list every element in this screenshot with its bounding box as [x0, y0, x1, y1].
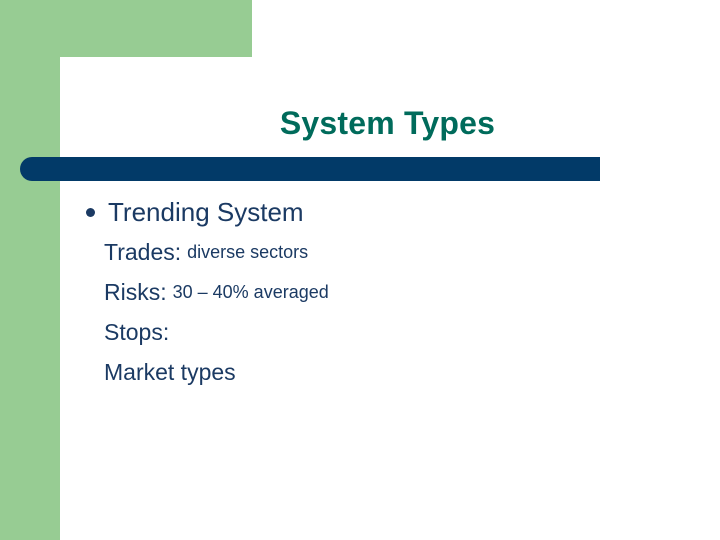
slide-canvas: System Types Trending System Trades: div…: [0, 0, 720, 540]
sub-line-label: Risks:: [104, 279, 167, 306]
sub-line-detail: diverse sectors: [187, 239, 308, 266]
sub-line-label: Stops:: [104, 319, 169, 346]
sub-line-trades: Trades: diverse sectors: [86, 232, 686, 272]
sub-line-detail: 30 – 40% averaged: [173, 279, 329, 306]
sub-line-label: Trades:: [104, 239, 181, 266]
sub-line-label: Market types: [104, 359, 236, 386]
bullet-dot-icon: [86, 208, 95, 217]
slide-title: System Types: [60, 104, 715, 142]
sub-line-risks: Risks: 30 – 40% averaged: [86, 272, 686, 312]
green-left-strip-decoration: [0, 0, 60, 540]
green-top-block-decoration: [0, 0, 252, 57]
slide-body: Trending System Trades: diverse sectors …: [86, 192, 686, 392]
bullet-item-label: Trending System: [108, 197, 304, 227]
title-underline-bar: [20, 157, 600, 181]
sub-line-stops: Stops:: [86, 312, 686, 352]
sub-line-market-types: Market types: [86, 352, 686, 392]
bullet-item-trending-system: Trending System: [86, 192, 686, 232]
